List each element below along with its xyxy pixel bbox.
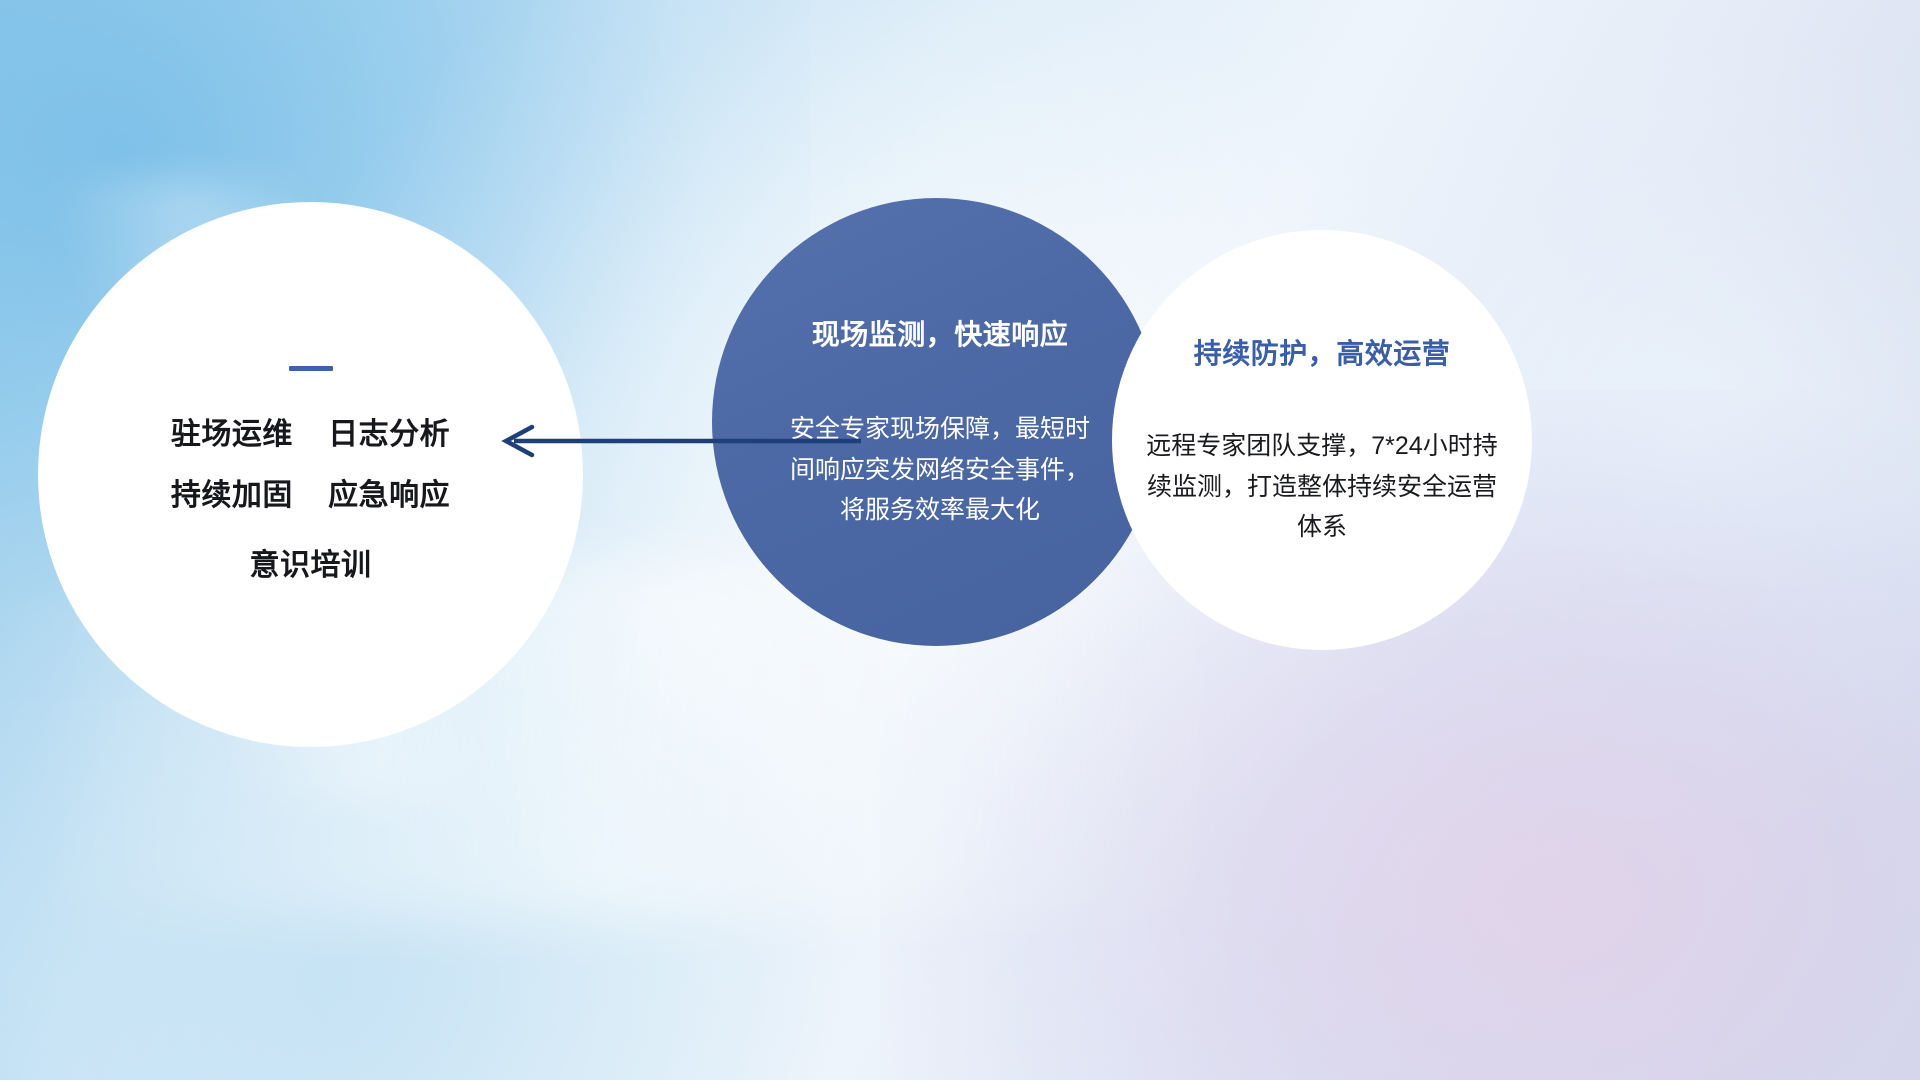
right-circle-title: 持续防护，高效运营 [1194, 332, 1451, 372]
service-diagram: 现场监测，快速响应 安全专家现场保障，最短时间响应突发网络安全事件，将服务效率最… [0, 0, 1920, 1080]
left-circle-line-1: 驻场运维 日志分析 [171, 417, 450, 452]
divider-dash [289, 366, 333, 371]
right-circle-body: 远程专家团队支撑，7*24小时持续监测，打造整体持续安全运营体系 [1142, 426, 1502, 548]
center-circle-title: 现场监测，快速响应 [812, 313, 1069, 353]
left-circle-line-2: 持续加固 应急响应 [171, 478, 450, 513]
left-circle-line-3: 意识培训 [250, 548, 372, 583]
right-circle-continuous-protection[interactable]: 持续防护，高效运营 远程专家团队支撑，7*24小时持续监测，打造整体持续安全运营… [1112, 230, 1532, 650]
left-arrow-icon [480, 405, 865, 477]
